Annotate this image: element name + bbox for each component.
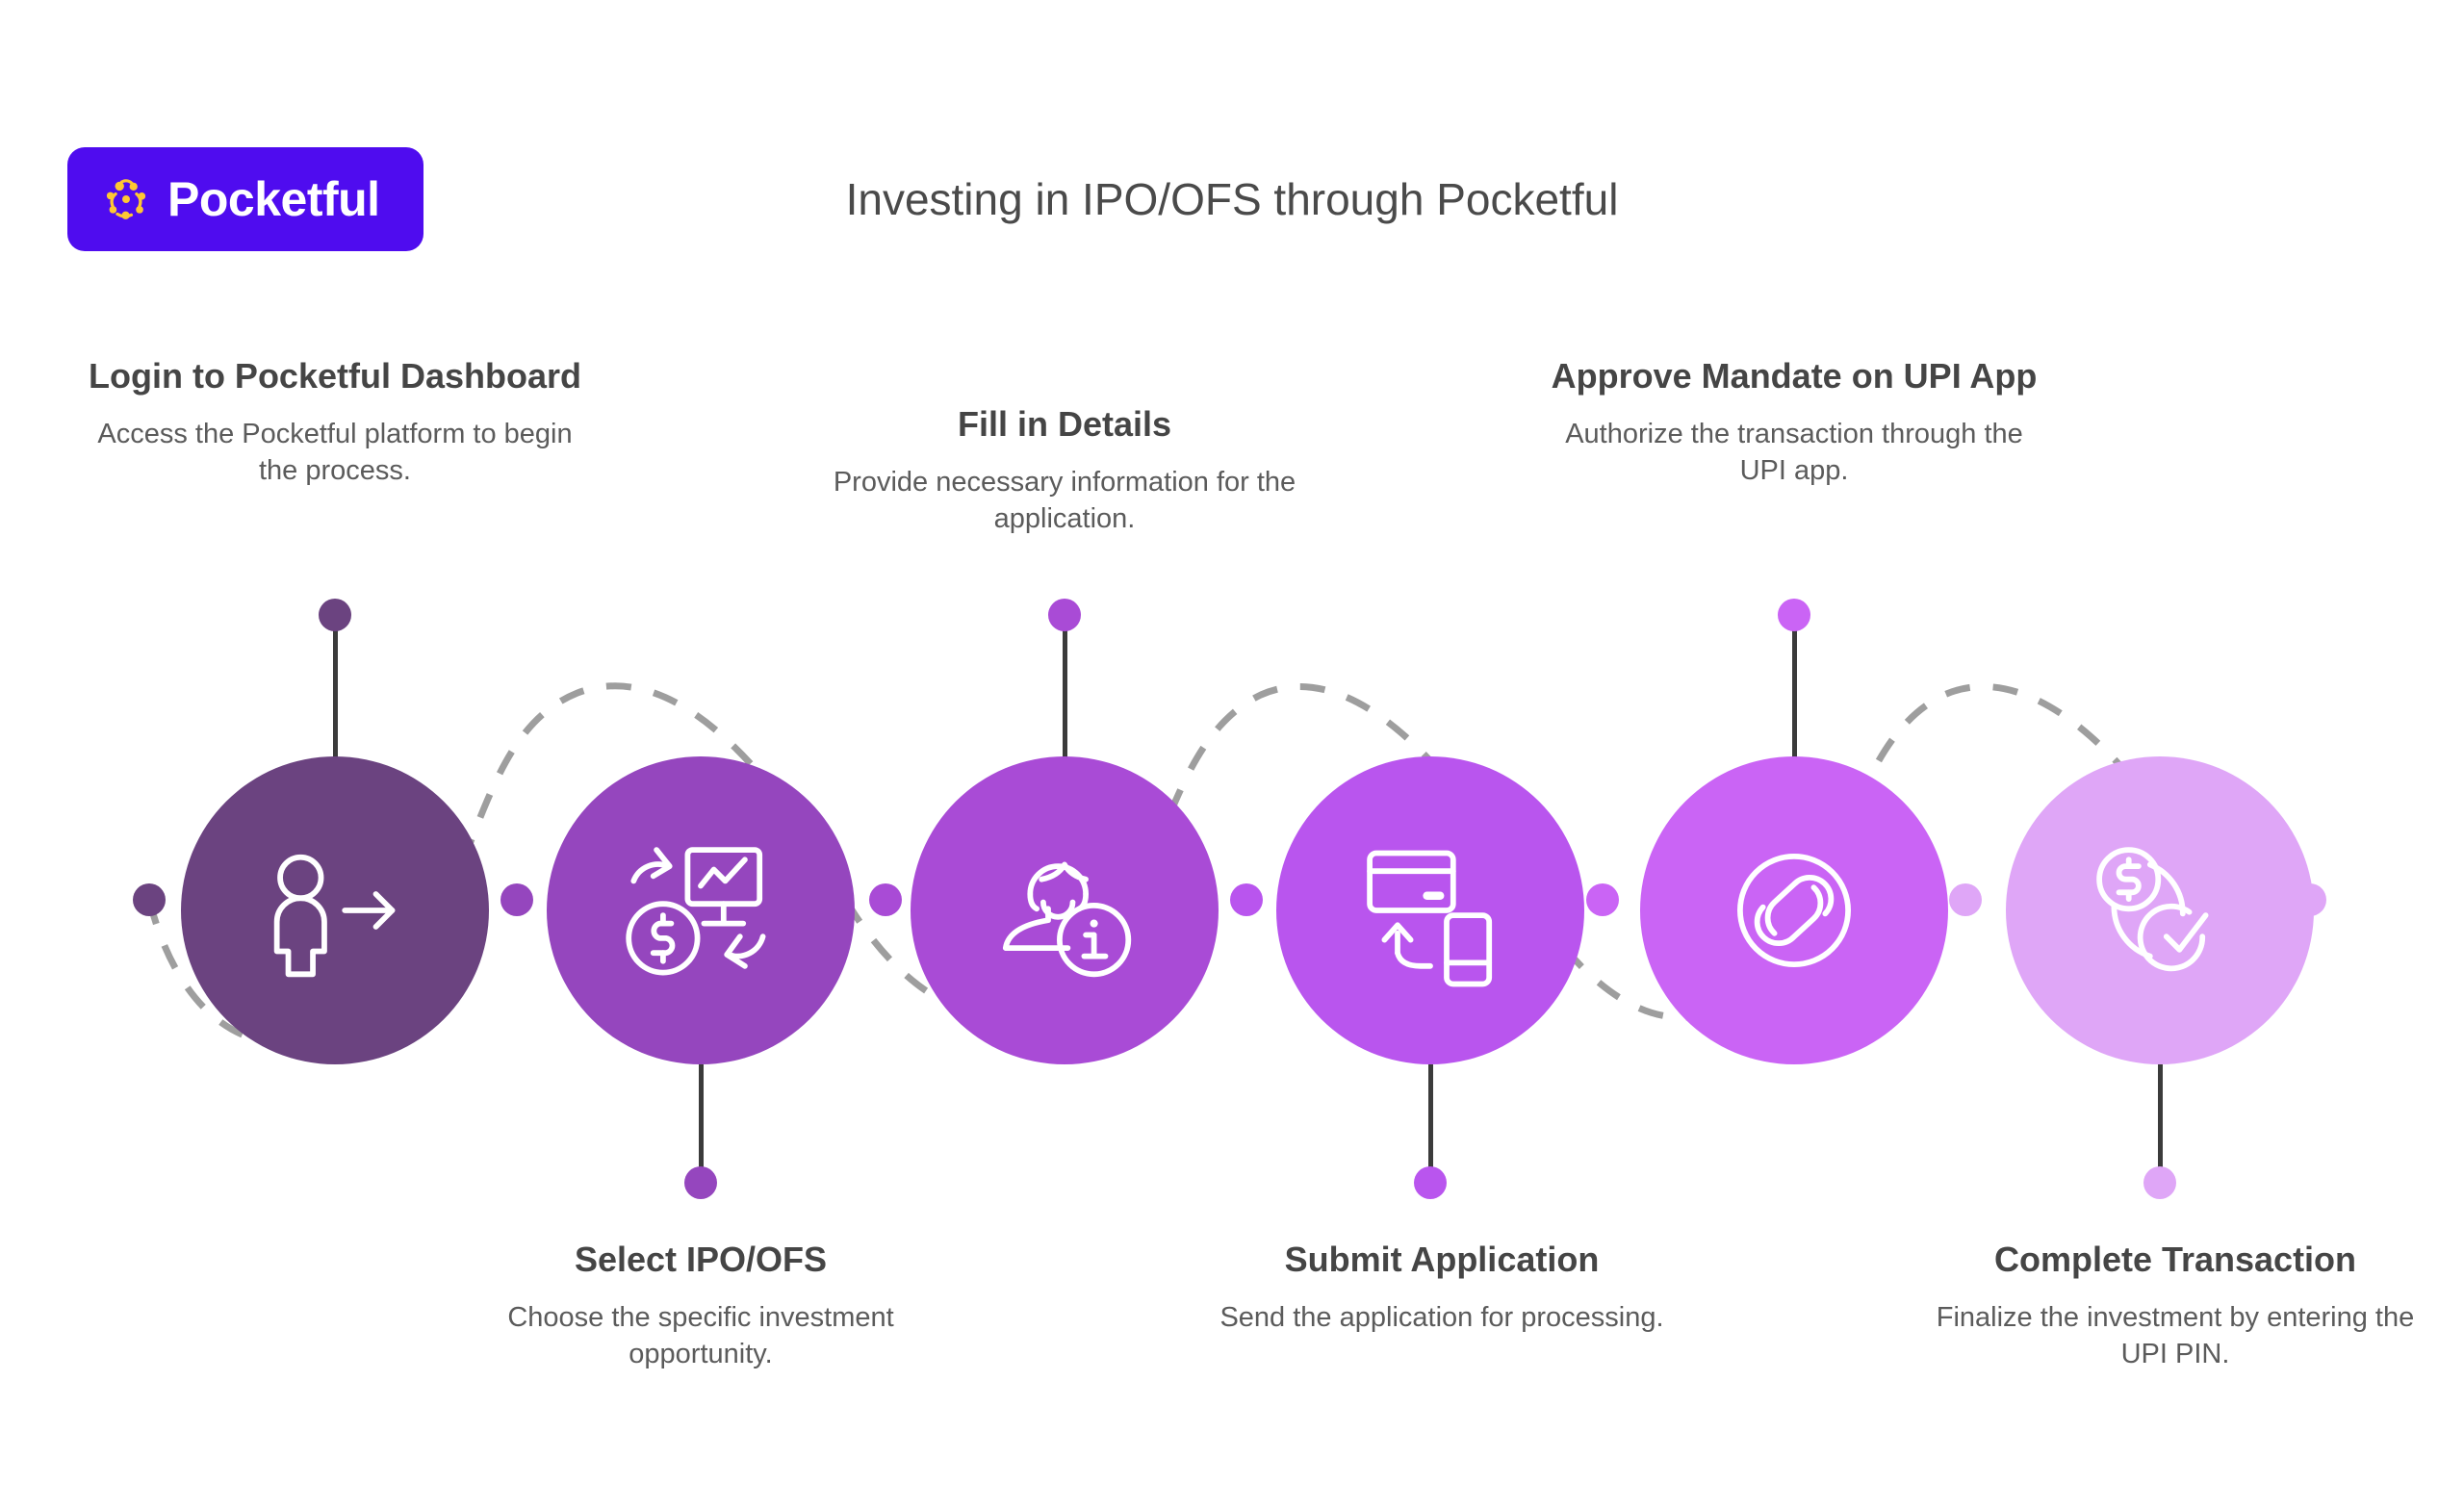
step-title-1: Login to Pocketful Dashboard <box>85 356 585 396</box>
connector-dot <box>869 883 902 916</box>
step-caption-3: Fill in Details Provide necessary inform… <box>814 404 1315 538</box>
step-desc-3: Provide necessary information for the ap… <box>814 465 1315 537</box>
step-caption-6: Complete Transaction Finalize the invest… <box>1925 1240 2425 1373</box>
step-circle-4[interactable] <box>1276 756 1584 1064</box>
connector-dot <box>1949 883 1982 916</box>
step-caption-5: Approve Mandate on UPI App Authorize the… <box>1544 356 2044 490</box>
connector-dot <box>500 883 533 916</box>
step-title-5: Approve Mandate on UPI App <box>1544 356 2044 396</box>
money-chart-exchange-icon <box>619 829 783 992</box>
step-desc-4: Send the application for processing. <box>1192 1300 1692 1337</box>
step-desc-5: Authorize the transaction through the UP… <box>1544 417 2044 489</box>
card-phone-transfer-icon <box>1348 829 1512 992</box>
step-circle-3[interactable] <box>911 756 1219 1064</box>
step-title-2: Select IPO/OFS <box>450 1240 951 1279</box>
connector-dot <box>133 883 166 916</box>
stem-dot-step-5 <box>1778 599 1810 631</box>
stem-dot-step-1 <box>319 599 351 631</box>
step-desc-2: Choose the specific investment opportuni… <box>450 1300 951 1372</box>
stem-dot-step-3 <box>1048 599 1081 631</box>
person-info-icon <box>983 829 1146 992</box>
step-circle-5[interactable] <box>1640 756 1948 1064</box>
stem-dot-step-6 <box>2143 1166 2176 1199</box>
step-title-6: Complete Transaction <box>1925 1240 2425 1279</box>
stem-line-step-2 <box>699 1064 704 1182</box>
stem-line-step-6 <box>2158 1064 2163 1182</box>
step-circle-6[interactable] <box>2006 756 2314 1064</box>
person-arrow-icon <box>253 829 417 992</box>
step-title-3: Fill in Details <box>814 404 1315 444</box>
step-caption-4: Submit Application Send the application … <box>1192 1240 1692 1337</box>
stem-line-step-1 <box>333 616 338 760</box>
connector-dot <box>1230 883 1263 916</box>
step-desc-6: Finalize the investment by entering the … <box>1925 1300 2425 1372</box>
stem-dot-step-2 <box>684 1166 717 1199</box>
process-flow: Login to Pocketful Dashboard Access the … <box>0 0 2464 1509</box>
step-circle-2[interactable] <box>547 756 855 1064</box>
stem-line-step-3 <box>1063 616 1067 760</box>
stem-line-step-5 <box>1792 616 1797 760</box>
stem-dot-step-4 <box>1414 1166 1447 1199</box>
step-circle-1[interactable] <box>181 756 489 1064</box>
step-caption-1: Login to Pocketful Dashboard Access the … <box>85 356 585 490</box>
connector-dot <box>1586 883 1619 916</box>
step-caption-2: Select IPO/OFS Choose the specific inves… <box>450 1240 951 1373</box>
stem-line-step-4 <box>1428 1064 1433 1182</box>
step-title-4: Submit Application <box>1192 1240 1692 1279</box>
step-desc-1: Access the Pocketful platform to begin t… <box>85 417 585 489</box>
money-check-refresh-icon <box>2078 829 2242 992</box>
upi-link-circle-icon <box>1712 829 1876 992</box>
